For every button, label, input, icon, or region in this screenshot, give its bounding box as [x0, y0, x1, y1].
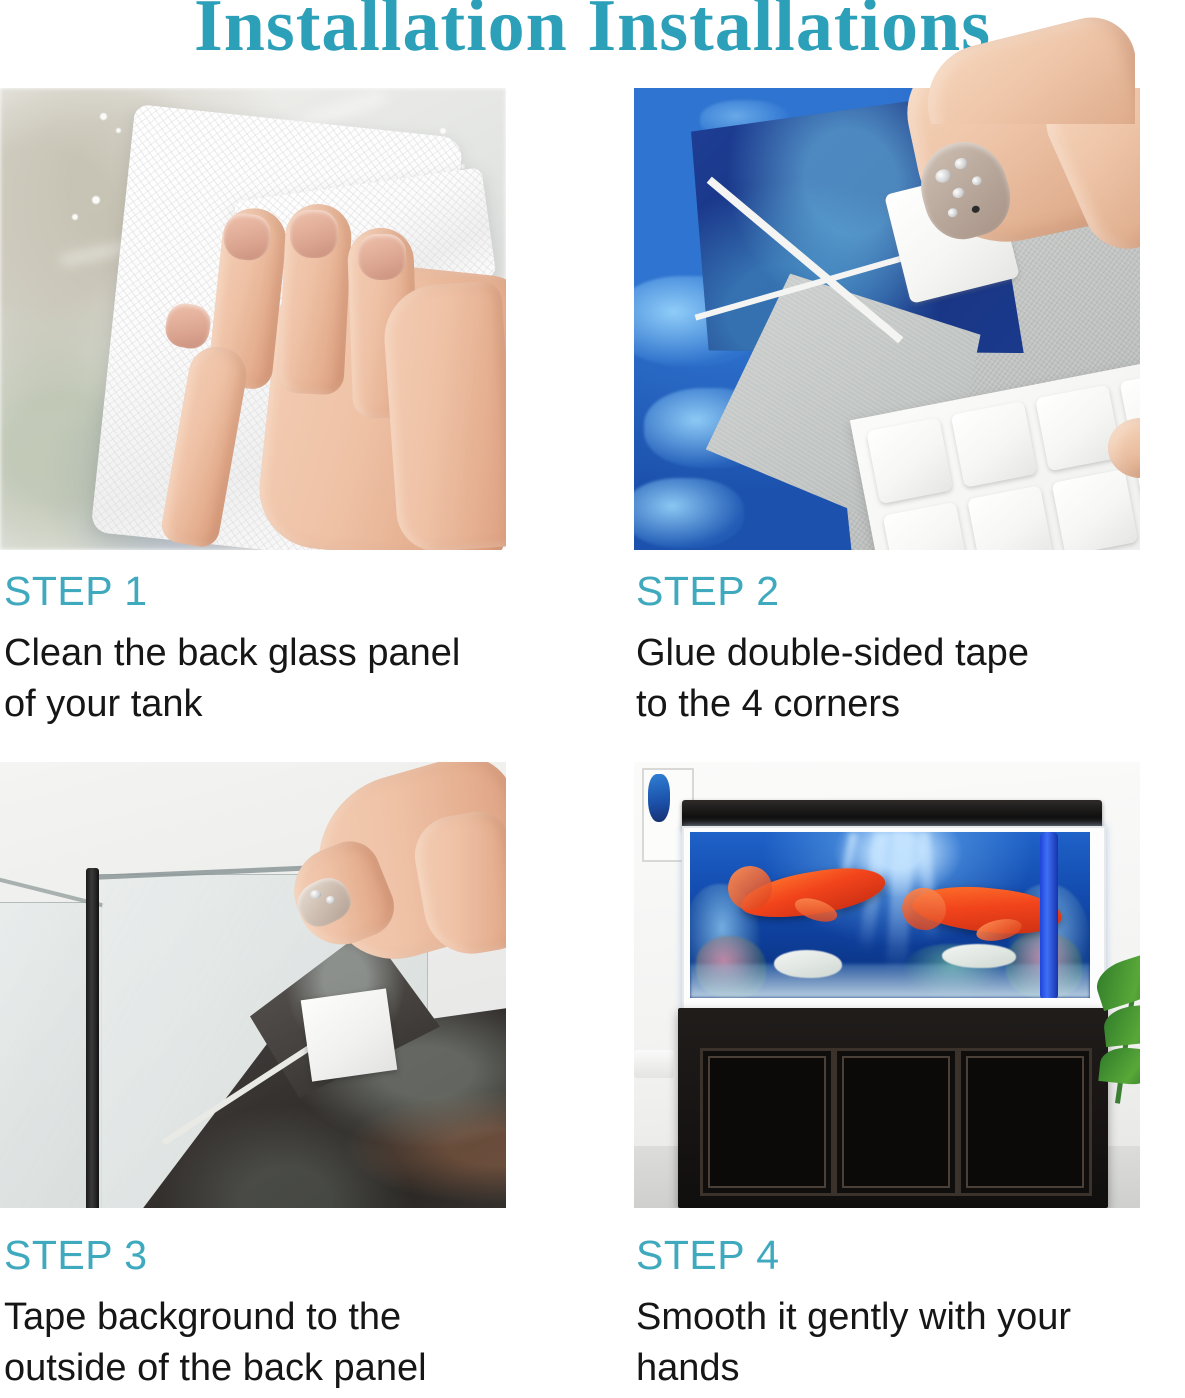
- blue-filter-tube: [1040, 832, 1058, 998]
- fingernail: [290, 210, 338, 258]
- nail-glitter: [310, 890, 321, 899]
- thumb: [920, 14, 1135, 124]
- cabinet-door-right: [958, 1048, 1092, 1196]
- wall-picture-artwork: [648, 774, 670, 822]
- step-2-text: Glue double-sided tape to the 4 corners: [636, 628, 1181, 729]
- nail-glitter: [951, 186, 965, 199]
- water-droplet: [92, 196, 100, 204]
- adhesive-pad: [967, 485, 1054, 550]
- step-2-thumb-overlap: [920, 14, 1135, 124]
- step-3-heading: STEP 3: [4, 1232, 148, 1279]
- nail-glitter: [947, 207, 959, 218]
- cabinet-door-left: [700, 1048, 834, 1196]
- nail-glitter: [971, 175, 983, 186]
- step-4-photo: [634, 762, 1140, 1208]
- water-droplet: [72, 214, 78, 220]
- tank-corner-black-trim: [86, 868, 99, 1208]
- white-rock: [774, 950, 842, 978]
- nail-glitter: [953, 156, 969, 170]
- step-1-text: Clean the back glass panel of your tank: [4, 628, 564, 729]
- nail-glitter: [326, 896, 335, 904]
- coral-texture: [634, 478, 744, 548]
- water-droplet: [440, 128, 446, 134]
- side-table: [634, 1050, 674, 1078]
- adhesive-pad: [883, 502, 970, 550]
- step-1-photo: [0, 88, 506, 550]
- nail-glitter: [934, 167, 953, 184]
- water-droplet: [100, 113, 107, 120]
- step-2-photo: [634, 88, 1140, 550]
- adhesive-pad: [1035, 384, 1122, 471]
- adhesive-pad-on-poster: [301, 988, 398, 1081]
- aquarium-background-poster: [690, 832, 1090, 998]
- fingernail: [358, 234, 406, 280]
- step-2-heading: STEP 2: [636, 568, 780, 615]
- adhesive-pad: [866, 417, 953, 504]
- adhesive-pad: [951, 401, 1038, 488]
- thumb: [381, 280, 506, 550]
- step-1-heading: STEP 1: [4, 568, 148, 615]
- water-droplet: [116, 128, 121, 133]
- adhesive-pad: [1052, 469, 1139, 550]
- white-rock: [942, 944, 1016, 968]
- nail-glitter: [971, 205, 981, 214]
- step-3-photo: [0, 762, 506, 1208]
- cabinet-door-center: [834, 1048, 958, 1196]
- step-4-heading: STEP 4: [636, 1232, 780, 1279]
- step-4-text: Smooth it gently with your hands: [636, 1292, 1181, 1393]
- sand-bed: [690, 964, 1090, 998]
- step-3-text: Tape background to the outside of the ba…: [4, 1292, 564, 1393]
